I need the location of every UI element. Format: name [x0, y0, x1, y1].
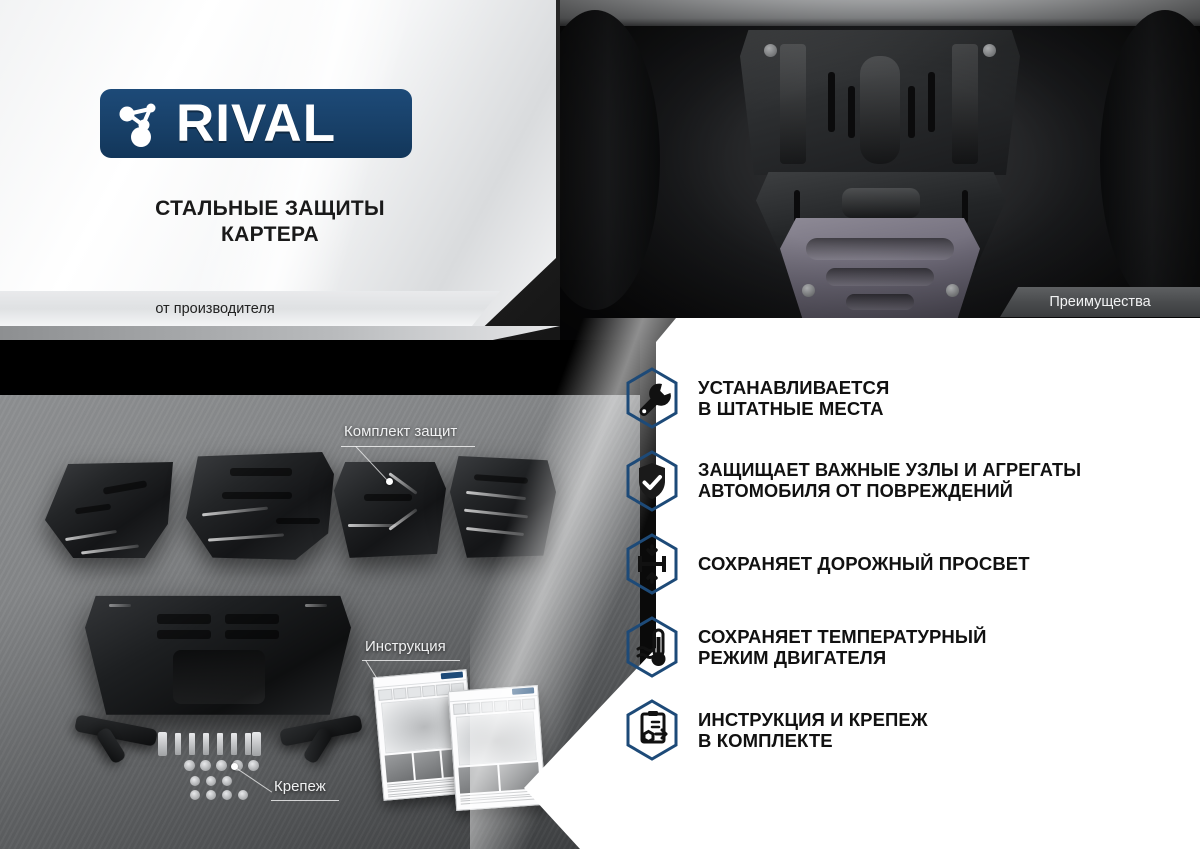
skid-plate-3 [334, 460, 446, 562]
subtitle-bar: от производителя [0, 291, 430, 326]
features-list: УСТАНАВЛИВАЕТСЯ В ШТАТНЫЕ МЕСТА ЗАЩИЩАЕТ… [620, 366, 1195, 781]
molecule-logo-icon [114, 98, 172, 150]
feature-line1: ЗАЩИЩАЕТ ВАЖНЫЕ УЗЛЫ И АГРЕГАТЫ [698, 460, 1081, 481]
wrench-icon [620, 366, 684, 430]
feature-item-temperature: СОХРАНЯЕТ ТЕМПЕРАТУРНЫЙ РЕЖИМ ДВИГАТЕЛЯ [620, 615, 1195, 679]
thermometer-icon [620, 615, 684, 679]
feature-line1: УСТАНАВЛИВАЕТСЯ [698, 377, 889, 398]
feature-text-temperature: СОХРАНЯЕТ ТЕМПЕРАТУРНЫЙ РЕЖИМ ДВИГАТЕЛЯ [698, 626, 987, 669]
subtitle-text: от производителя [155, 301, 274, 317]
feature-line2: В ШТАТНЫЕ МЕСТА [698, 398, 889, 419]
grey-accent-strip [0, 326, 560, 340]
main-skid-plate [85, 588, 351, 720]
feature-line2: РЕЖИМ ДВИГАТЕЛЯ [698, 647, 987, 668]
callout-label-kit: Комплект защит [344, 423, 457, 440]
feature-item-kit-included: ИНСТРУКЦИЯ И КРЕПЕЖ В КОМПЛЕКТЕ [620, 698, 1195, 762]
callout-underline-kit [341, 446, 475, 447]
skid-plate-4 [450, 456, 556, 562]
feature-text-installation: УСТАНАВЛИВАЕТСЯ В ШТАТНЫЕ МЕСТА [698, 377, 889, 420]
feature-text-protection: ЗАЩИЩАЕТ ВАЖНЫЕ УЗЛЫ И АГРЕГАТЫ АВТОМОБИ… [698, 460, 1081, 502]
feature-line2: АВТОМОБИЛЯ ОТ ПОВРЕЖДЕНИЙ [698, 481, 1081, 502]
skid-plate-1 [45, 462, 173, 562]
callout-label-hardware: Крепеж [274, 778, 326, 795]
callout-underline-hardware [271, 800, 339, 801]
feature-line1: СОХРАНЯЕТ ДОРОЖНЫЙ ПРОСВЕТ [698, 553, 1030, 574]
page-title: СТАЛЬНЫЕ ЗАЩИТЫ КАРТЕРА [60, 196, 480, 249]
callout-underline-manual [362, 660, 460, 661]
feature-text-kit-included: ИНСТРУКЦИЯ И КРЕПЕЖ В КОМПЛЕКТЕ [698, 709, 928, 752]
feature-item-installation: УСТАНАВЛИВАЕТСЯ В ШТАТНЫЕ МЕСТА [620, 366, 1195, 430]
brand-name: RIVAL [176, 97, 336, 150]
shield-check-icon [620, 449, 684, 513]
feature-line1: ИНСТРУКЦИЯ И КРЕПЕЖ [698, 709, 928, 730]
page-title-line1: СТАЛЬНЫЕ ЗАЩИТЫ [60, 196, 480, 222]
manual-hardware-icon [620, 698, 684, 762]
advantages-tab-label: Преимущества [1049, 294, 1150, 310]
skid-plate-2 [186, 452, 334, 562]
advantages-tab: Преимущества [1000, 287, 1200, 317]
callout-dot-kit [386, 478, 393, 485]
brand-logo: RIVAL [100, 89, 412, 158]
feature-item-clearance: СОХРАНЯЕТ ДОРОЖНЫЙ ПРОСВЕТ [620, 532, 1195, 596]
promo-banner: RIVAL СТАЛЬНЫЕ ЗАЩИТЫ КАРТЕРА от произво… [0, 0, 1200, 849]
ground-clearance-icon [620, 532, 684, 596]
feature-line2: В КОМПЛЕКТЕ [698, 730, 928, 751]
page-title-line2: КАРТЕРА [60, 222, 480, 248]
feature-text-clearance: СОХРАНЯЕТ ДОРОЖНЫЙ ПРОСВЕТ [698, 553, 1030, 574]
feature-item-protection: ЗАЩИЩАЕТ ВАЖНЫЕ УЗЛЫ И АГРЕГАТЫ АВТОМОБИ… [620, 449, 1195, 513]
top-left-white-panel [0, 0, 580, 340]
callout-label-manual: Инструкция [365, 638, 446, 655]
feature-line1: СОХРАНЯЕТ ТЕМПЕРАТУРНЫЙ [698, 626, 987, 647]
black-divider-band [0, 340, 640, 395]
